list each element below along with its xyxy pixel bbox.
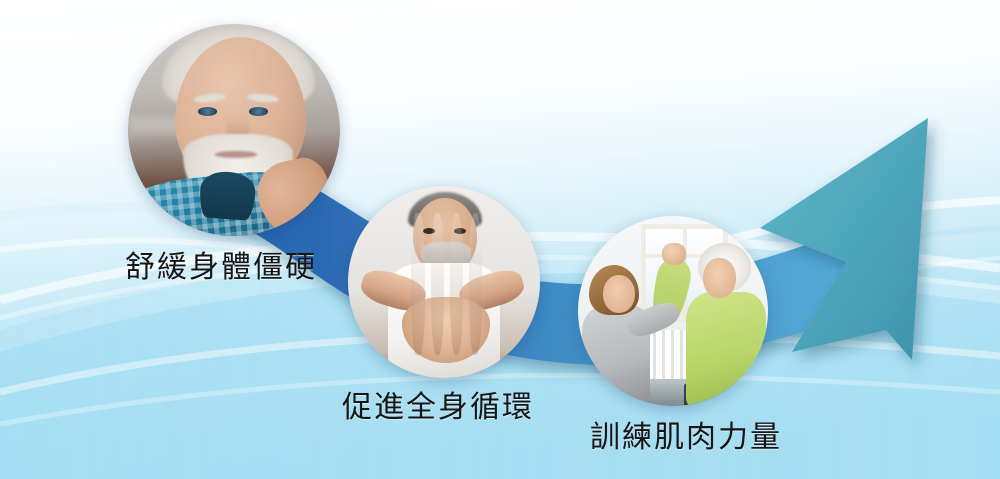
exercise-benefits-infographic: 舒緩身體僵硬 促進全身循環 訓練肌肉力量: [0, 0, 1000, 479]
step-caption-2: 促進全身循環: [342, 393, 534, 423]
step-photo-3: [578, 216, 768, 406]
step-photo-2: [348, 186, 540, 378]
step-photo-1: [128, 24, 340, 236]
step-caption-3: 訓練肌肉力量: [590, 423, 782, 453]
step-caption-1: 舒緩身體僵硬: [125, 253, 317, 283]
